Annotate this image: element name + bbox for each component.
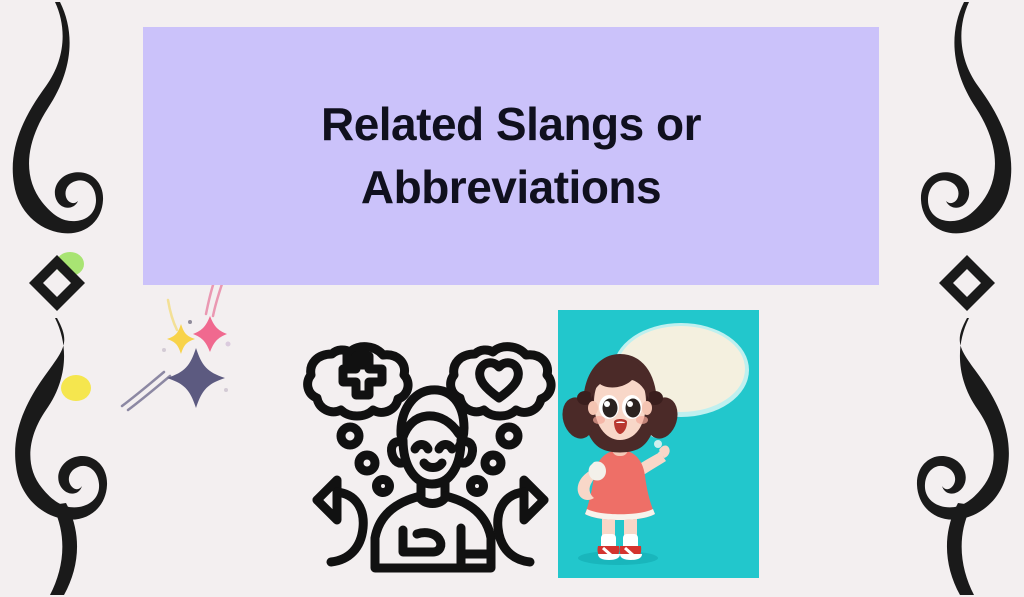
title-banner: Related Slangs or Abbreviations [143, 27, 879, 285]
cartoon-girl-panel [558, 310, 759, 578]
slide-canvas: Related Slangs or Abbreviations [0, 0, 1024, 597]
right-flourish-ornament-icon [882, 0, 1022, 597]
shooting-stars-icon [118, 278, 258, 413]
person-with-thought-bubbles-icon [303, 316, 558, 578]
cartoon-girl-speaking-icon [558, 310, 759, 578]
page-title: Related Slangs or Abbreviations [321, 93, 701, 220]
